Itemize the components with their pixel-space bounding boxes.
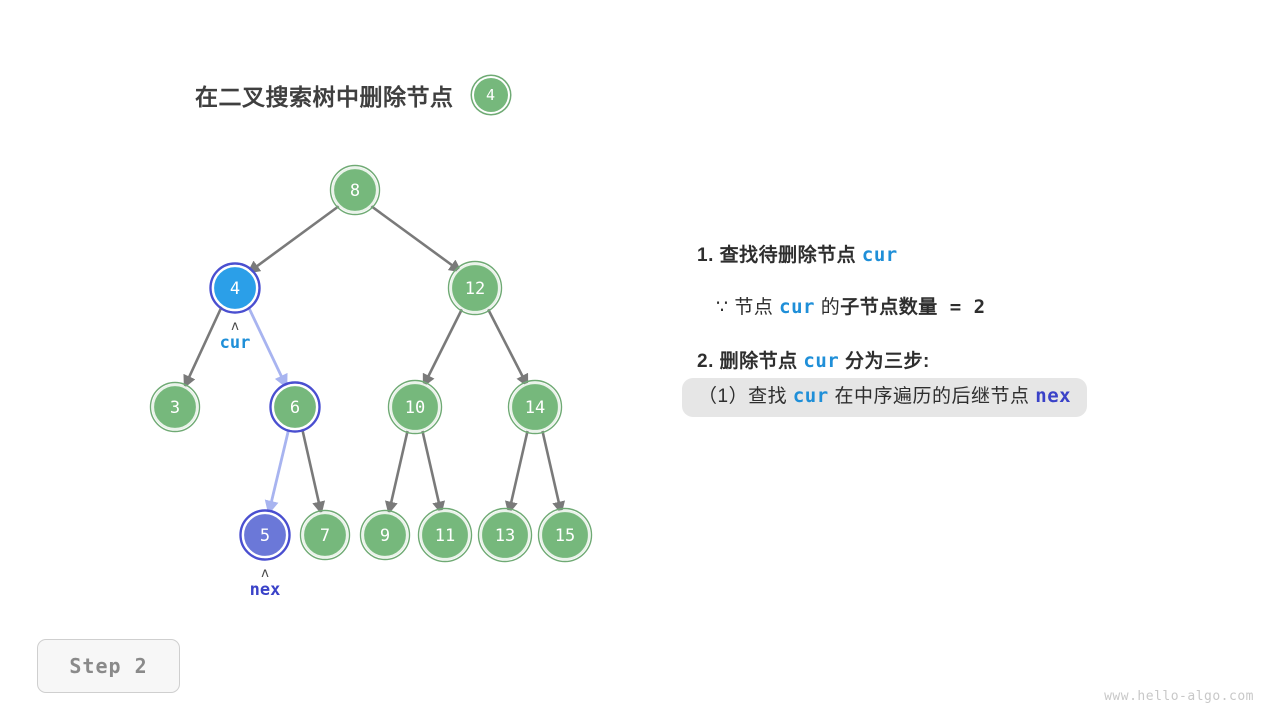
node-value: 10 <box>405 398 425 418</box>
node-value: 8 <box>350 181 360 201</box>
tree-node-6: 6 <box>271 383 320 432</box>
tree-node-10: 10 <box>389 381 442 434</box>
edge-4-3 <box>185 306 222 386</box>
edge-12-10 <box>424 309 462 385</box>
panel-reason: ∵ 节点 cur 的子节点数量 = 2 <box>697 298 1217 317</box>
explanation-panel: 1. 查找待删除节点 cur ∵ 节点 cur 的子节点数量 = 2 2. 删除… <box>697 246 1217 417</box>
panel-reason-because-symbol: ∵ <box>716 297 734 318</box>
node-value: 9 <box>380 526 390 546</box>
node-value: 15 <box>555 526 575 546</box>
tree-edges <box>185 206 561 512</box>
panel-substep-highlight: （1）查找 cur 在中序遍历的后继节点 nex <box>682 378 1087 417</box>
panel-reason-bold: 子节点数量 <box>840 297 938 318</box>
node-value: 6 <box>290 398 300 418</box>
edge-6-5 <box>269 428 289 512</box>
edge-12-14 <box>488 309 527 385</box>
node-value: 12 <box>465 279 485 299</box>
node-value: 3 <box>170 398 180 418</box>
edge-8-12 <box>371 206 460 271</box>
tree-node-12: 12 <box>449 262 502 315</box>
edge-14-13 <box>509 429 528 512</box>
pointer-caret-icon: ʌ <box>261 566 269 581</box>
panel-substep-middle: 在中序遍历的后继节点 <box>829 386 1036 407</box>
tree-node-3: 3 <box>151 383 200 432</box>
edge-8-4 <box>249 206 339 272</box>
binary-search-tree-diagram: 8412361014579111315 ʌcurʌnex <box>0 0 660 640</box>
panel-step-2-suffix: 分为三步: <box>839 351 930 372</box>
tree-node-8: 8 <box>331 166 380 215</box>
panel-reason-equals: = <box>938 296 974 318</box>
panel-step-1-text: 1. 查找待删除节点 <box>697 245 862 266</box>
node-value: 13 <box>495 526 515 546</box>
pointer-label: cur <box>220 333 251 353</box>
edge-4-6 <box>248 306 286 386</box>
panel-reason-value: 2 <box>974 296 986 318</box>
watermark: www.hello-algo.com <box>1104 689 1254 704</box>
node-value: 14 <box>525 398 545 418</box>
node-value: 7 <box>320 526 330 546</box>
edge-14-15 <box>542 429 561 512</box>
panel-step-2-prefix: 2. 删除节点 <box>697 351 803 372</box>
tree-node-15: 15 <box>539 509 592 562</box>
tree-node-9: 9 <box>361 511 410 560</box>
panel-step-2-code-cur: cur <box>803 350 839 372</box>
pointer-label: nex <box>250 580 281 600</box>
pointer-cur: ʌcur <box>220 319 251 353</box>
tree-node-4: 4 <box>211 264 260 313</box>
step-badge: Step 2 <box>37 639 180 693</box>
step-badge-label: Step 2 <box>69 654 147 678</box>
tree-nodes: 8412361014579111315 <box>151 166 592 562</box>
panel-reason-a: 节点 <box>734 297 779 318</box>
edge-10-11 <box>422 429 441 512</box>
panel-step-2: 2. 删除节点 cur 分为三步: <box>697 352 1217 371</box>
node-value: 4 <box>230 279 240 299</box>
tree-node-5: 5 <box>241 511 290 560</box>
node-value: 11 <box>435 526 455 546</box>
pointer-caret-icon: ʌ <box>231 319 239 334</box>
panel-substep-prefix: （1）查找 <box>698 386 793 407</box>
panel-substep-code-nex: nex <box>1035 385 1071 407</box>
panel-step-1-code-cur: cur <box>862 244 898 266</box>
panel-step-1: 1. 查找待删除节点 cur <box>697 246 1217 265</box>
edge-6-7 <box>302 428 321 512</box>
tree-node-14: 14 <box>509 381 562 434</box>
tree-node-11: 11 <box>419 509 472 562</box>
edge-10-9 <box>389 429 408 512</box>
panel-reason-code-cur: cur <box>779 296 815 318</box>
panel-substep-code-cur: cur <box>793 385 829 407</box>
panel-substep-1: （1）查找 cur 在中序遍历的后继节点 nex <box>698 386 1071 407</box>
tree-node-7: 7 <box>301 511 350 560</box>
pointer-nex: ʌnex <box>250 566 281 600</box>
panel-reason-b: 的 <box>815 297 840 318</box>
tree-node-13: 13 <box>479 509 532 562</box>
node-value: 5 <box>260 526 270 546</box>
